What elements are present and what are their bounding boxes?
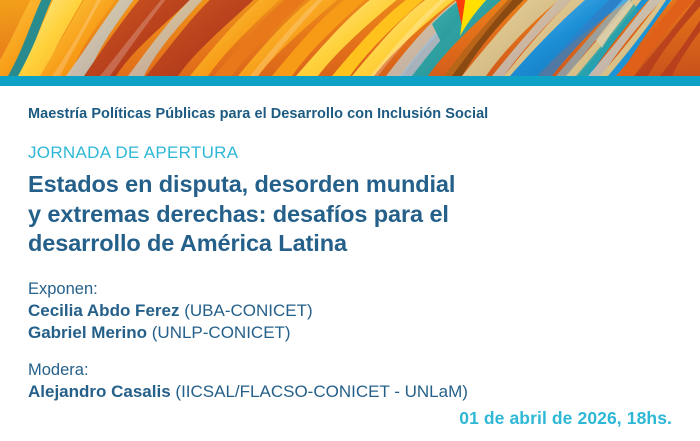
event-title-line-2: y extremas derechas: desafíos para el: [28, 200, 672, 230]
event-kicker: JORNADA DE APERTURA: [28, 144, 672, 163]
moderator-role-label: Modera:: [28, 360, 672, 381]
speaker-entry: Cecilia Abdo Ferez (UBA-CONICET): [28, 300, 672, 322]
event-date-time: 01 de abril de 2026, 18hs.: [459, 408, 672, 429]
moderator-block: Modera: Alejandro Casalis (IICSAL/FLACSO…: [28, 360, 672, 403]
speakers-role-label: Exponen:: [28, 279, 672, 300]
moderator-entry: Alejandro Casalis (IICSAL/FLACSO-CONICET…: [28, 381, 672, 403]
moderator-name: Alejandro Casalis: [28, 382, 171, 401]
speaker-affiliation: (UBA-CONICET): [184, 301, 312, 320]
accent-divider-bar: [0, 76, 700, 86]
event-title: Estados en disputa, desorden mundial y e…: [28, 170, 672, 259]
event-title-line-3: desarrollo de América Latina: [28, 229, 672, 259]
speaker-entry: Gabriel Merino (UNLP-CONICET): [28, 322, 672, 344]
event-title-line-1: Estados en disputa, desorden mundial: [28, 170, 672, 200]
flyer-content: Maestría Políticas Públicas para el Desa…: [0, 86, 700, 441]
speaker-name: Gabriel Merino: [28, 323, 147, 342]
event-flyer: Maestría Políticas Públicas para el Desa…: [0, 0, 700, 441]
speaker-name: Cecilia Abdo Ferez: [28, 301, 179, 320]
moderator-affiliation: (IICSAL/FLACSO-CONICET - UNLaM): [175, 382, 468, 401]
speakers-block: Exponen: Cecilia Abdo Ferez (UBA-CONICET…: [28, 279, 672, 344]
banner-artwork: [0, 0, 700, 76]
program-name: Maestría Políticas Públicas para el Desa…: [28, 106, 672, 123]
speaker-affiliation: (UNLP-CONICET): [152, 323, 291, 342]
